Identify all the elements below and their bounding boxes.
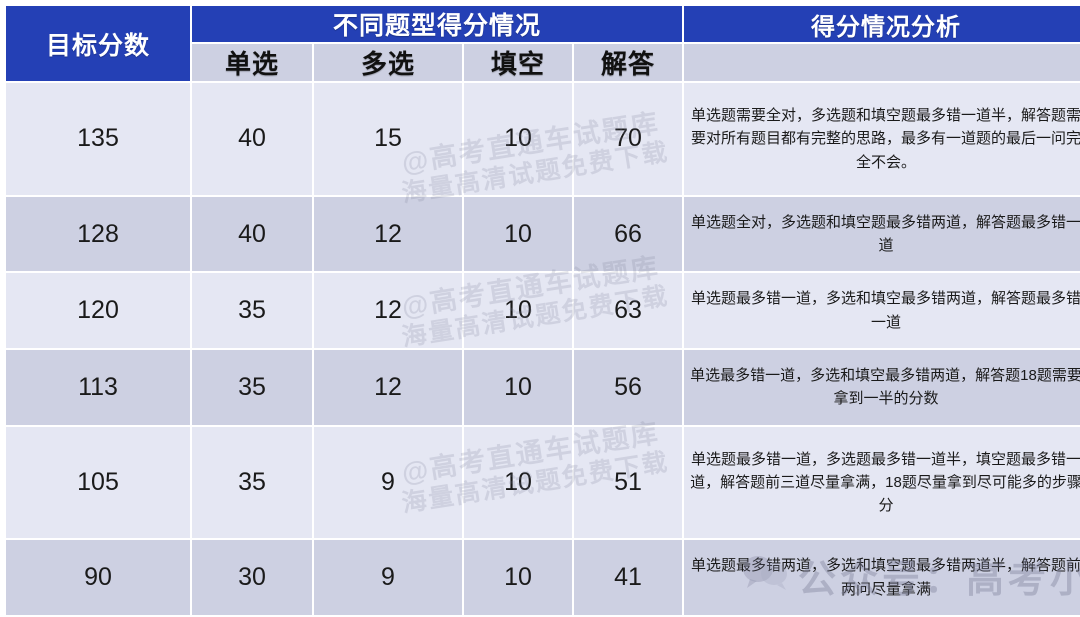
cell-fill-blank: 10 bbox=[464, 197, 572, 272]
cell-multi-choice: 12 bbox=[314, 197, 462, 272]
table-row: 120 35 12 10 63 单选题最多错一道，多选和填空最多错两道，解答题最… bbox=[6, 273, 1080, 348]
cell-solution: 63 bbox=[574, 273, 682, 348]
header-solution: 解答 bbox=[574, 44, 682, 81]
table-page: 目标分数 不同题型得分情况 得分情况分析 单选 多选 填空 解答 135 40 … bbox=[0, 0, 1080, 617]
cell-single-choice: 35 bbox=[192, 427, 312, 539]
cell-multi-choice: 9 bbox=[314, 540, 462, 615]
cell-multi-choice: 12 bbox=[314, 273, 462, 348]
cell-single-choice: 40 bbox=[192, 197, 312, 272]
cell-single-choice: 30 bbox=[192, 540, 312, 615]
cell-fill-blank: 10 bbox=[464, 540, 572, 615]
cell-multi-choice: 12 bbox=[314, 350, 462, 425]
table-row: 135 40 15 10 70 单选题需要全对，多选题和填空题最多错一道半，解答… bbox=[6, 83, 1080, 195]
cell-single-choice: 40 bbox=[192, 83, 312, 195]
header-row-top: 目标分数 不同题型得分情况 得分情况分析 bbox=[6, 6, 1080, 42]
cell-solution: 70 bbox=[574, 83, 682, 195]
cell-solution: 66 bbox=[574, 197, 682, 272]
cell-single-choice: 35 bbox=[192, 350, 312, 425]
table-row: 105 35 9 10 51 单选题最多错一道，多选题最多错一道半，填空题最多错… bbox=[6, 427, 1080, 539]
cell-analysis: 单选题最多错一道，多选题最多错一道半，填空题最多错一道，解答题前三道尽量拿满，1… bbox=[684, 427, 1080, 539]
table-row: 90 30 9 10 41 单选题最多错两道，多选和填空题最多错两道半，解答题前… bbox=[6, 540, 1080, 615]
cell-target-score: 120 bbox=[6, 273, 190, 348]
header-question-types: 不同题型得分情况 bbox=[192, 6, 682, 42]
cell-analysis: 单选题最多错两道，多选和填空题最多错两道半，解答题前两问尽量拿满 bbox=[684, 540, 1080, 615]
header-analysis-spacer bbox=[684, 44, 1080, 81]
header-analysis: 得分情况分析 bbox=[684, 6, 1080, 42]
cell-single-choice: 35 bbox=[192, 273, 312, 348]
header-target-score: 目标分数 bbox=[6, 6, 190, 81]
cell-fill-blank: 10 bbox=[464, 83, 572, 195]
cell-fill-blank: 10 bbox=[464, 350, 572, 425]
cell-target-score: 128 bbox=[6, 197, 190, 272]
cell-analysis: 单选最多错一道，多选和填空最多错两道，解答题18题需要拿到一半的分数 bbox=[684, 350, 1080, 425]
table-row: 113 35 12 10 56 单选最多错一道，多选和填空最多错两道，解答题18… bbox=[6, 350, 1080, 425]
cell-multi-choice: 9 bbox=[314, 427, 462, 539]
cell-analysis: 单选题需要全对，多选题和填空题最多错一道半，解答题需要对所有题目都有完整的思路，… bbox=[684, 83, 1080, 195]
cell-fill-blank: 10 bbox=[464, 273, 572, 348]
cell-multi-choice: 15 bbox=[314, 83, 462, 195]
cell-analysis: 单选题最多错一道，多选和填空最多错两道，解答题最多错一道 bbox=[684, 273, 1080, 348]
table-header: 目标分数 不同题型得分情况 得分情况分析 单选 多选 填空 解答 bbox=[6, 6, 1080, 81]
header-single-choice: 单选 bbox=[192, 44, 312, 81]
cell-target-score: 135 bbox=[6, 83, 190, 195]
cell-target-score: 105 bbox=[6, 427, 190, 539]
cell-solution: 51 bbox=[574, 427, 682, 539]
cell-target-score: 113 bbox=[6, 350, 190, 425]
cell-solution: 56 bbox=[574, 350, 682, 425]
cell-analysis: 单选题全对，多选题和填空题最多错两道，解答题最多错一道 bbox=[684, 197, 1080, 272]
score-target-table: 目标分数 不同题型得分情况 得分情况分析 单选 多选 填空 解答 135 40 … bbox=[4, 4, 1080, 617]
cell-fill-blank: 10 bbox=[464, 427, 572, 539]
cell-solution: 41 bbox=[574, 540, 682, 615]
cell-target-score: 90 bbox=[6, 540, 190, 615]
header-multi-choice: 多选 bbox=[314, 44, 462, 81]
table-body: 135 40 15 10 70 单选题需要全对，多选题和填空题最多错一道半，解答… bbox=[6, 83, 1080, 615]
header-fill-blank: 填空 bbox=[464, 44, 572, 81]
table-row: 128 40 12 10 66 单选题全对，多选题和填空题最多错两道，解答题最多… bbox=[6, 197, 1080, 272]
